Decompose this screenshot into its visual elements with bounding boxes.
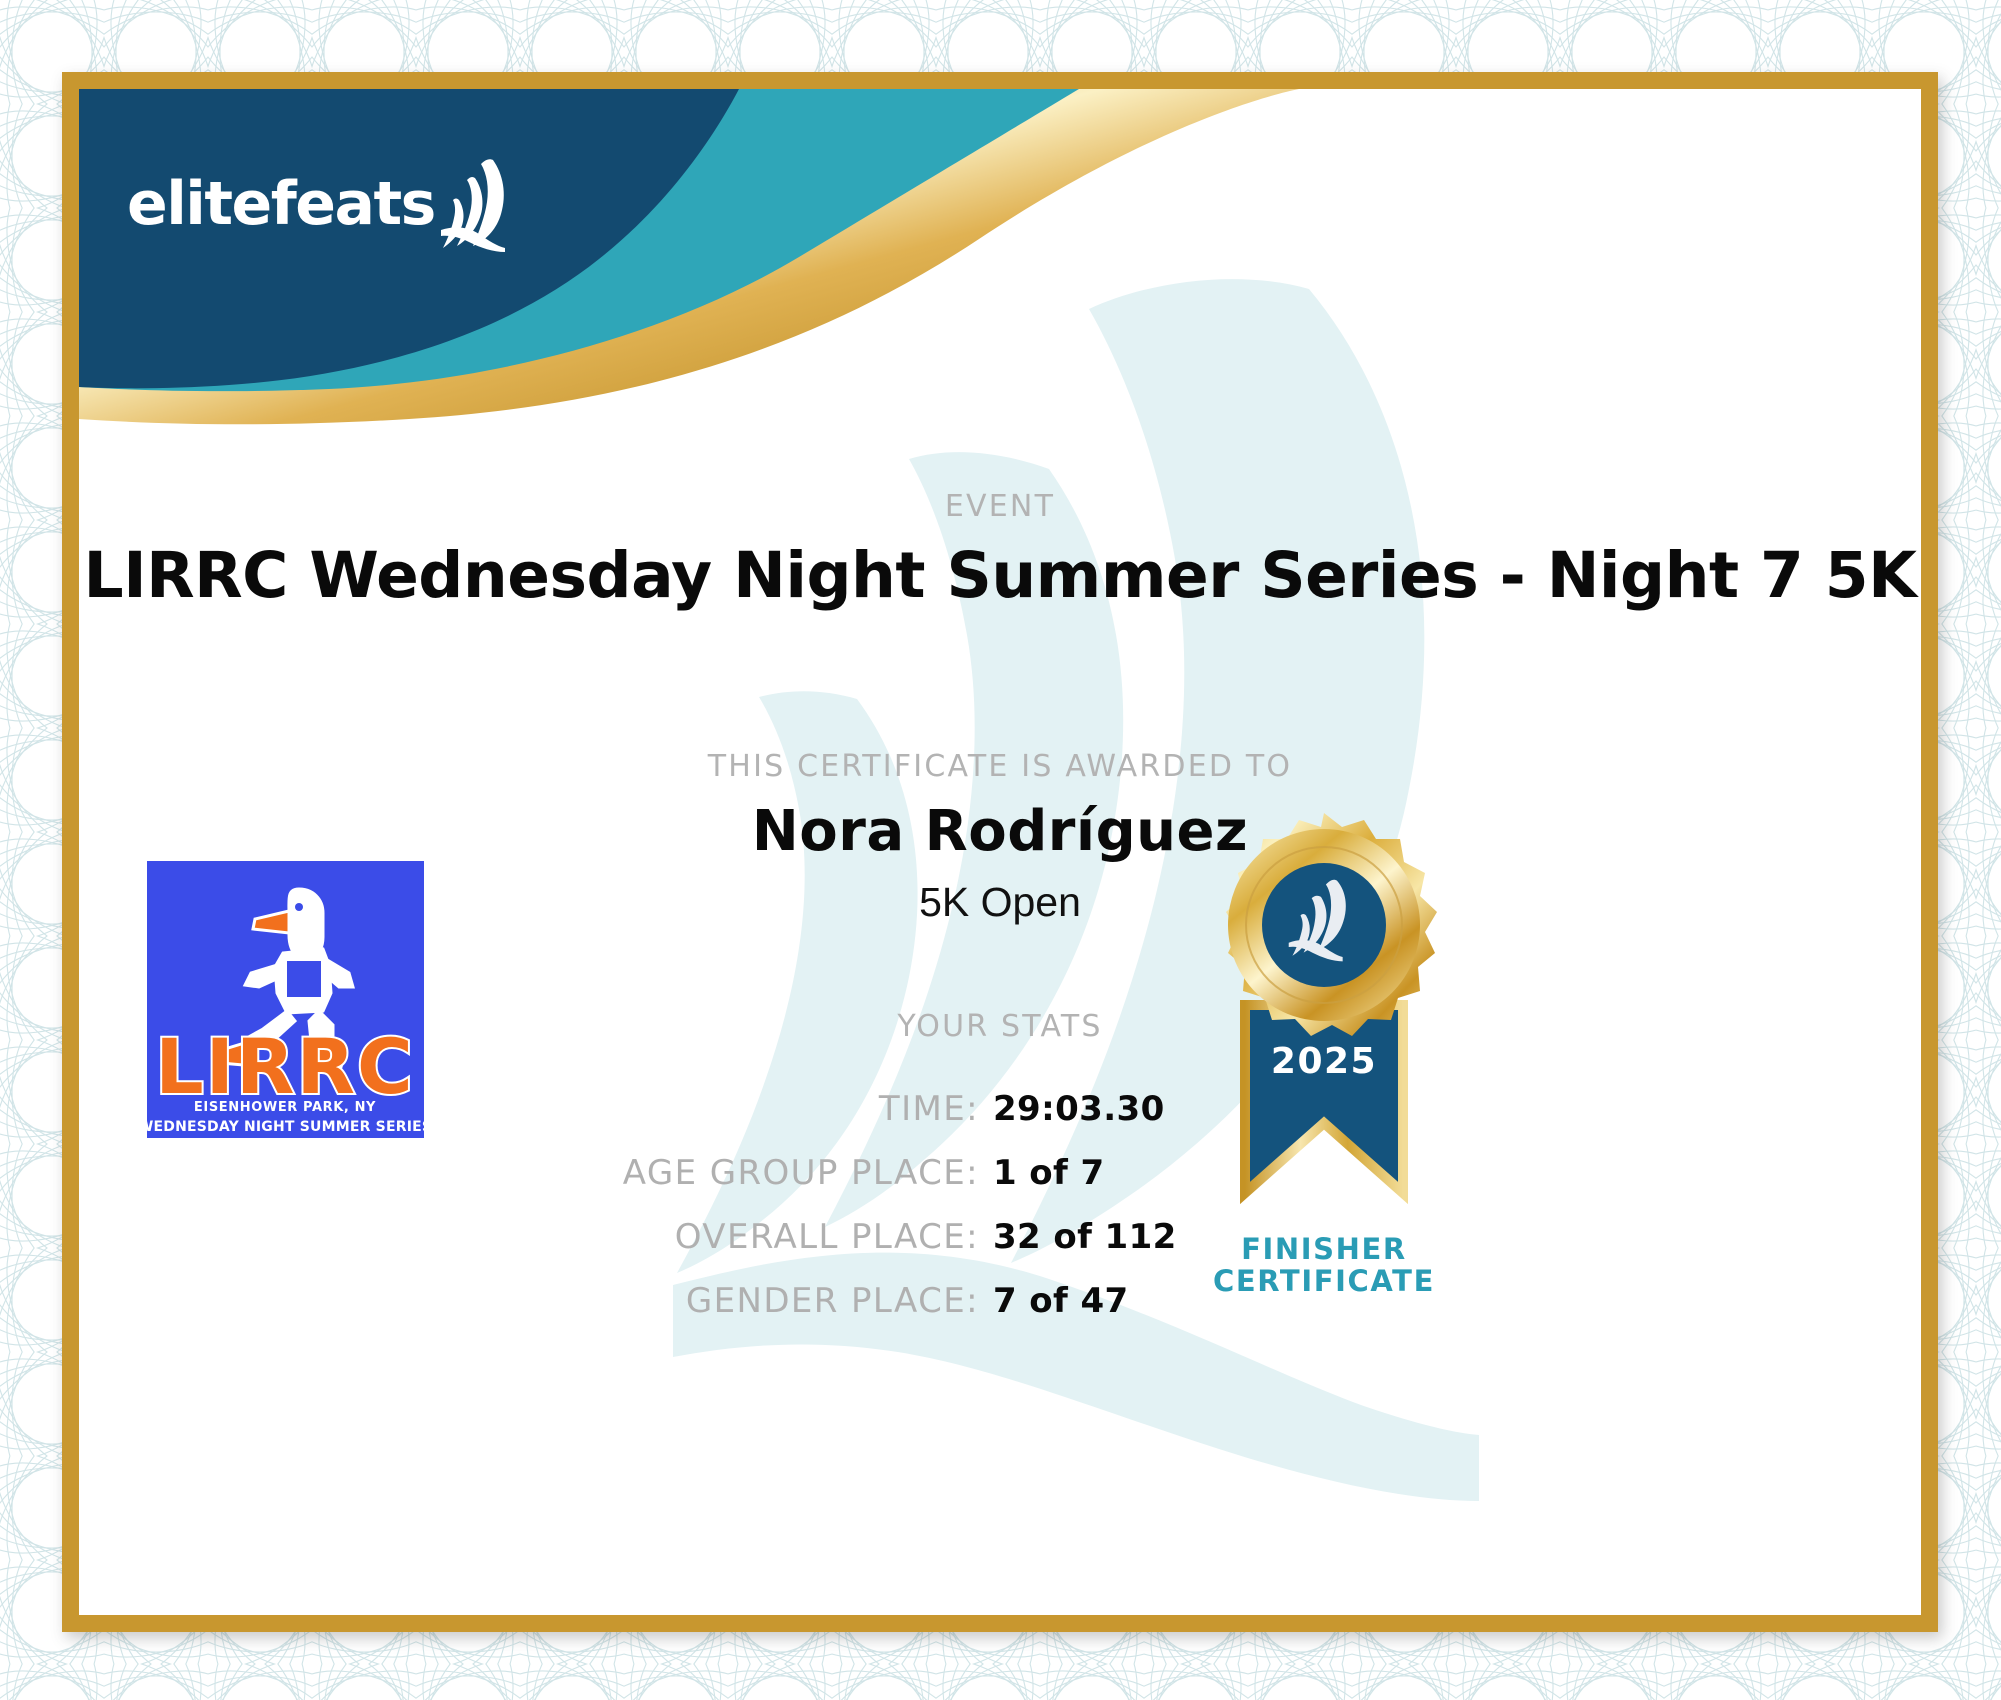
badge-year-text: 2025 <box>1271 1041 1377 1082</box>
finisher-medal-badge: 2025 <box>1199 805 1449 1275</box>
badge-ribbon <box>1245 1005 1403 1193</box>
stat-label-overall-place: OVERALL PLACE: <box>409 1217 979 1257</box>
race-logo-location: EISENHOWER PARK, NY <box>194 1100 376 1115</box>
badge-caption-line2: CERTIFICATE <box>1149 1265 1499 1297</box>
race-logo-lettermark: LIRRC <box>155 1022 415 1111</box>
recipient-name: Nora Rodríguez <box>79 799 1921 864</box>
race-logo-series: WEDNESDAY NIGHT SUMMER SERIES <box>147 1119 424 1135</box>
certificate-page: elitefeats EVENT LIRRC Wednesday Night S… <box>0 0 2001 1700</box>
stat-label-age-group-place: AGE GROUP PLACE: <box>409 1153 979 1193</box>
brand-wordmark: elitefeats <box>127 174 435 234</box>
header-curve-art <box>79 89 1299 449</box>
certificate-body: elitefeats EVENT LIRRC Wednesday Night S… <box>79 89 1921 1615</box>
stat-label-gender-place: GENDER PLACE: <box>409 1281 979 1321</box>
winged-foot-icon <box>439 156 517 252</box>
event-title: LIRRC Wednesday Night Summer Series - Ni… <box>79 539 1921 612</box>
stat-label-time: TIME: <box>409 1089 979 1129</box>
badge-caption-line1: FINISHER <box>1149 1233 1499 1265</box>
brand-logo: elitefeats <box>127 149 557 259</box>
awarded-to-label: THIS CERTIFICATE IS AWARDED TO <box>79 749 1921 784</box>
svg-text:LIRRC: LIRRC <box>155 1022 415 1111</box>
race-logo: LIRRC EISENHOWER PARK, NY WEDNESDAY NIGH… <box>147 861 424 1138</box>
badge-caption: FINISHER CERTIFICATE <box>1149 1233 1499 1298</box>
event-label: EVENT <box>79 489 1921 524</box>
certificate-frame: elitefeats EVENT LIRRC Wednesday Night S… <box>62 72 1938 1632</box>
